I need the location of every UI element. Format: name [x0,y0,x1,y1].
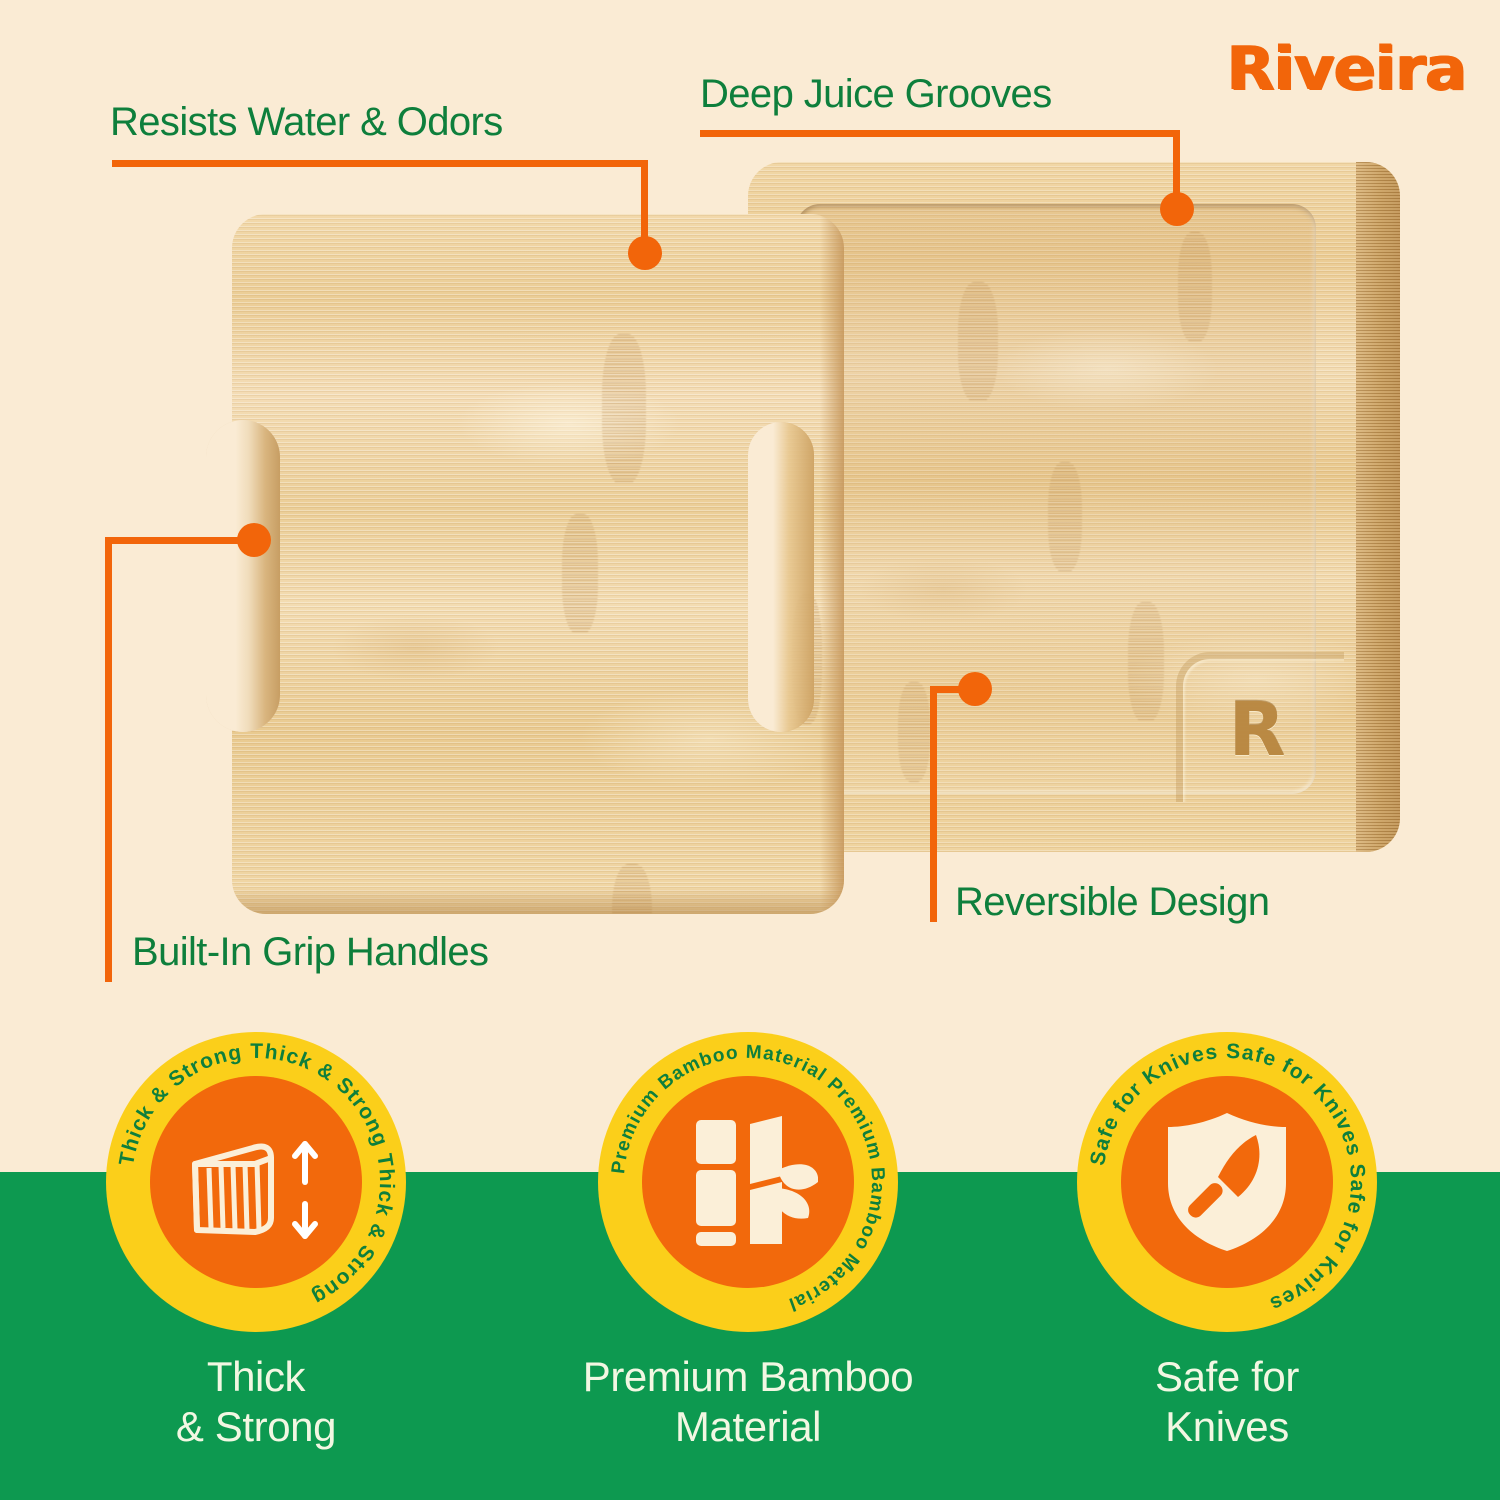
grip-handle-left [206,420,280,732]
shield-knife-icon [1160,1111,1294,1253]
engraved-brand-mark: R [1216,688,1294,772]
badge-safe-for-knives: Safe for Knives Safe for Knives Safe for… [1077,1032,1377,1332]
badge-caption-premium-bamboo-material: Premium Bamboo Material [578,1352,918,1451]
caption-line-1: Premium Bamboo [578,1352,918,1402]
caption-line-2: Knives [1057,1402,1397,1452]
leader-line-resists-water-odors-h [112,160,648,167]
callout-label-reversible-design: Reversible Design [955,880,1269,925]
board-bottom-bevel [232,888,844,914]
leader-line-built-in-grip-handles-v [105,537,112,982]
badge-core [150,1076,362,1288]
leader-line-built-in-grip-handles-h [105,537,251,544]
board-edge-right [820,214,844,914]
bamboo-stalk-icon [678,1114,818,1250]
callout-dot-deep-juice-grooves [1160,192,1194,226]
badge-caption-thick-and-strong: Thick & Strong [86,1352,426,1451]
leader-line-deep-juice-grooves-h [700,130,1180,137]
thick-board-arrows-icon [181,1118,331,1246]
caption-line-2: & Strong [86,1402,426,1452]
leader-line-reversible-design-v [930,686,937,922]
callout-label-built-in-grip-handles: Built-In Grip Handles [132,930,488,975]
board-edge-right [1356,162,1400,852]
badge-row: Thick & Strong Thick & Strong Thick & St… [0,1032,1500,1332]
badge-premium-bamboo-material: Premium Bamboo Material Premium Bamboo M… [598,1032,898,1332]
caption-line-1: Safe for [1057,1352,1397,1402]
caption-line-1: Thick [86,1352,426,1402]
callout-dot-resists-water-odors [628,236,662,270]
badge-caption-safe-for-knives: Safe for Knives [1057,1352,1397,1451]
callout-label-resists-water-odors: Resists Water & Odors [110,100,503,145]
badge-core [1121,1076,1333,1288]
grip-handle-right [748,422,814,732]
badge-thick-and-strong: Thick & Strong Thick & Strong Thick & St… [106,1032,406,1332]
infographic-canvas: Riveira R Resi [0,0,1500,1500]
callout-label-deep-juice-grooves: Deep Juice Grooves [700,72,1052,117]
bamboo-node-mark [562,514,598,634]
bamboo-node-mark [602,334,646,484]
caption-line-2: Material [578,1402,918,1452]
badge-core [642,1076,854,1288]
cutting-board-front [232,214,844,914]
